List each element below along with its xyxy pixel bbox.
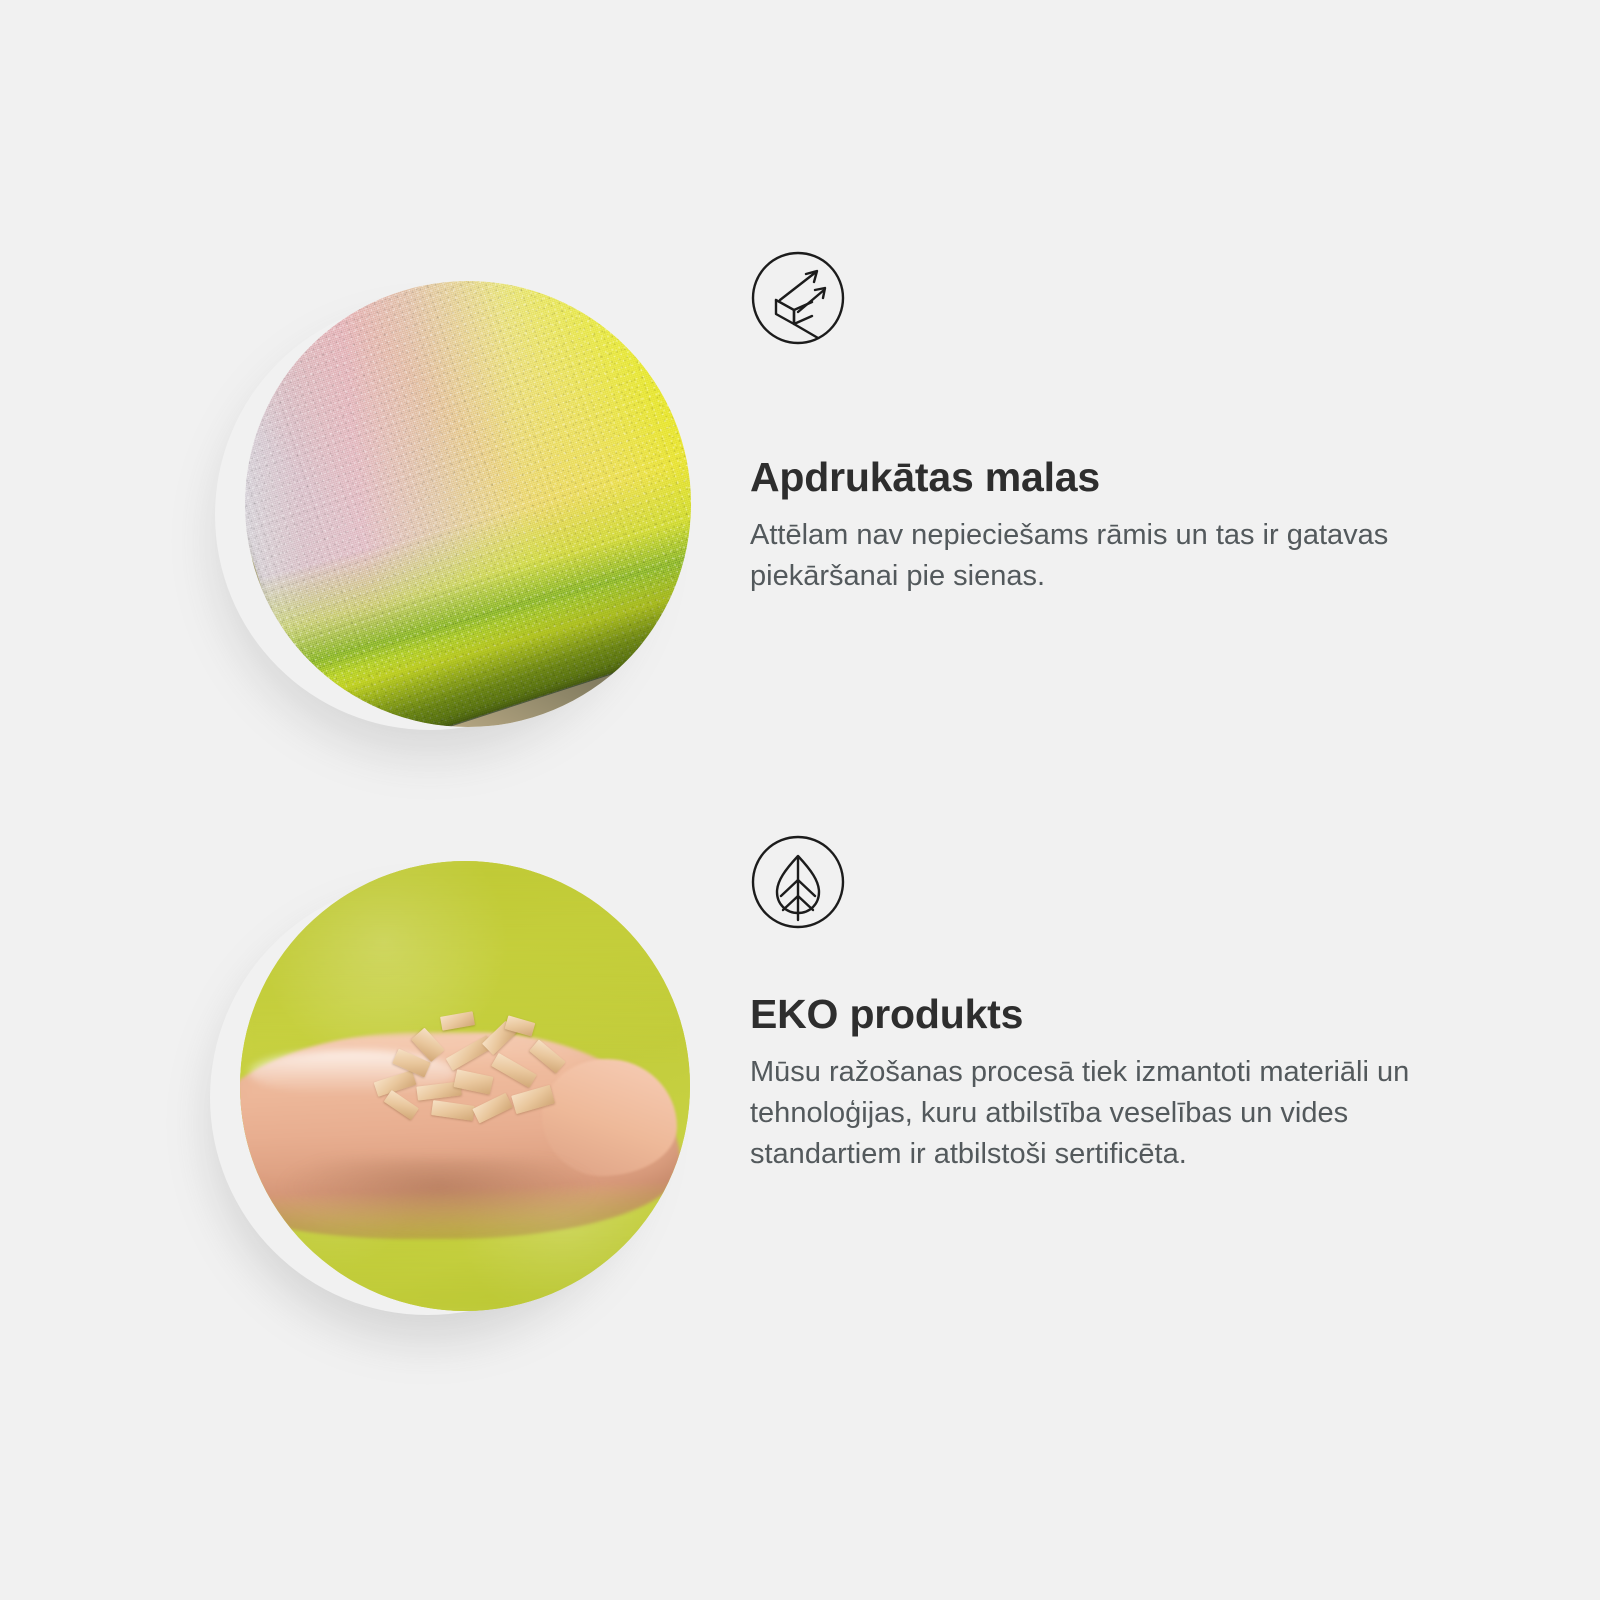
feature-description: Attēlam nav nepieciešams rāmis un tas ir… (750, 515, 1465, 597)
feature-title: EKO produkts (750, 992, 1480, 1038)
product-features-page: Apdrukātas malas Attēlam nav nepieciešam… (0, 0, 1600, 1600)
hand-holding-wood-chips-photo (240, 861, 690, 1311)
canvas-printed-face (245, 281, 691, 727)
canvas-wrapped-edges-icon (750, 250, 846, 346)
wood-chip-pile (366, 1014, 600, 1149)
feature-description: Mūsu ražošanas procesā tiek izmantoti ma… (750, 1052, 1465, 1176)
leaf-icon (750, 834, 846, 930)
canvas-print-corner-photo (245, 281, 691, 727)
feature-printed-edges: Apdrukātas malas Attēlam nav nepieciešam… (0, 240, 1600, 760)
feature-title: Apdrukātas malas (750, 455, 1480, 501)
feature-eco-product: EKO produkts Mūsu ražošanas procesā tiek… (0, 820, 1600, 1340)
eco-product-text-block: EKO produkts Mūsu ražošanas procesā tiek… (750, 992, 1480, 1175)
printed-edges-text-block: Apdrukātas malas Attēlam nav nepieciešam… (750, 455, 1480, 597)
hand-inner-shadow (276, 1158, 600, 1230)
